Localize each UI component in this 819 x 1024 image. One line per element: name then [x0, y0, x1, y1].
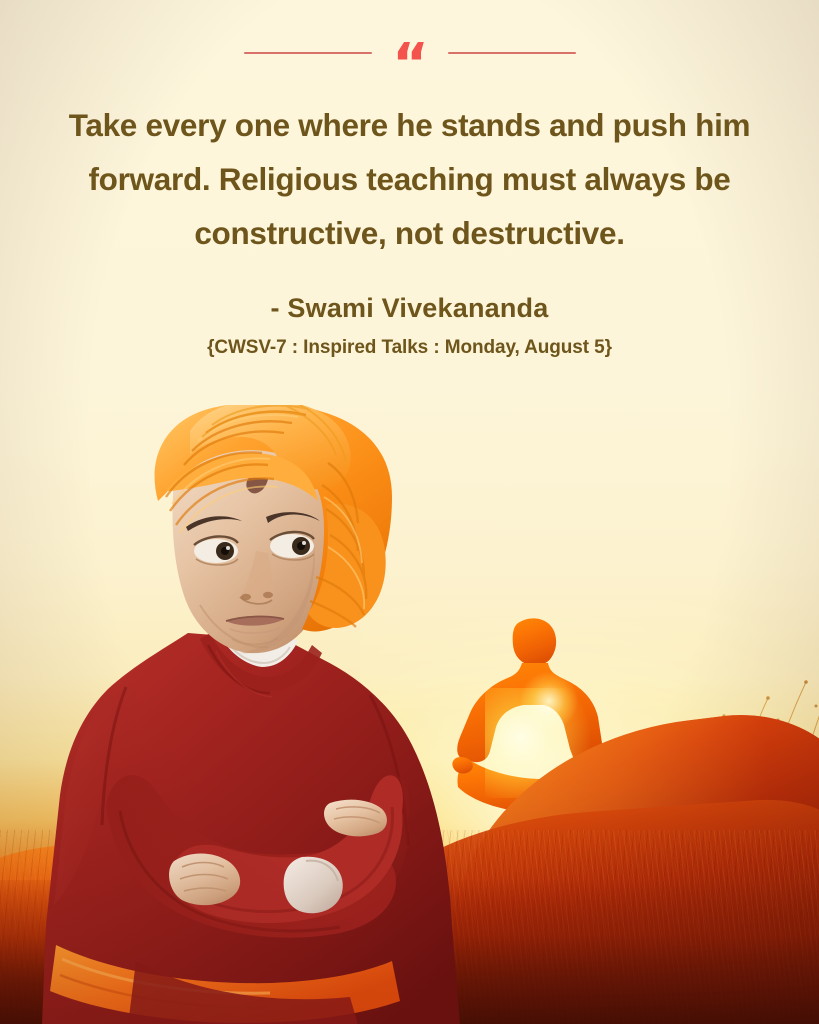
quote-text: Take every one where he stands and push …: [40, 98, 779, 260]
quote-panel: “ Take every one where he stands and pus…: [0, 0, 819, 420]
quote-source: {CWSV-7 : Inspired Talks : Monday, Augus…: [0, 337, 819, 359]
decorative-rule-right-icon: [448, 52, 576, 54]
quote-card: “ Take every one where he stands and pus…: [0, 0, 819, 1024]
decorative-rule-left-icon: [244, 52, 372, 54]
lens-flare-small: [520, 672, 578, 730]
quote-author: - Swami Vivekananda: [0, 293, 819, 324]
swami-vivekananda-portrait-icon: [40, 405, 510, 1024]
ornament-divider: “: [0, 33, 819, 73]
